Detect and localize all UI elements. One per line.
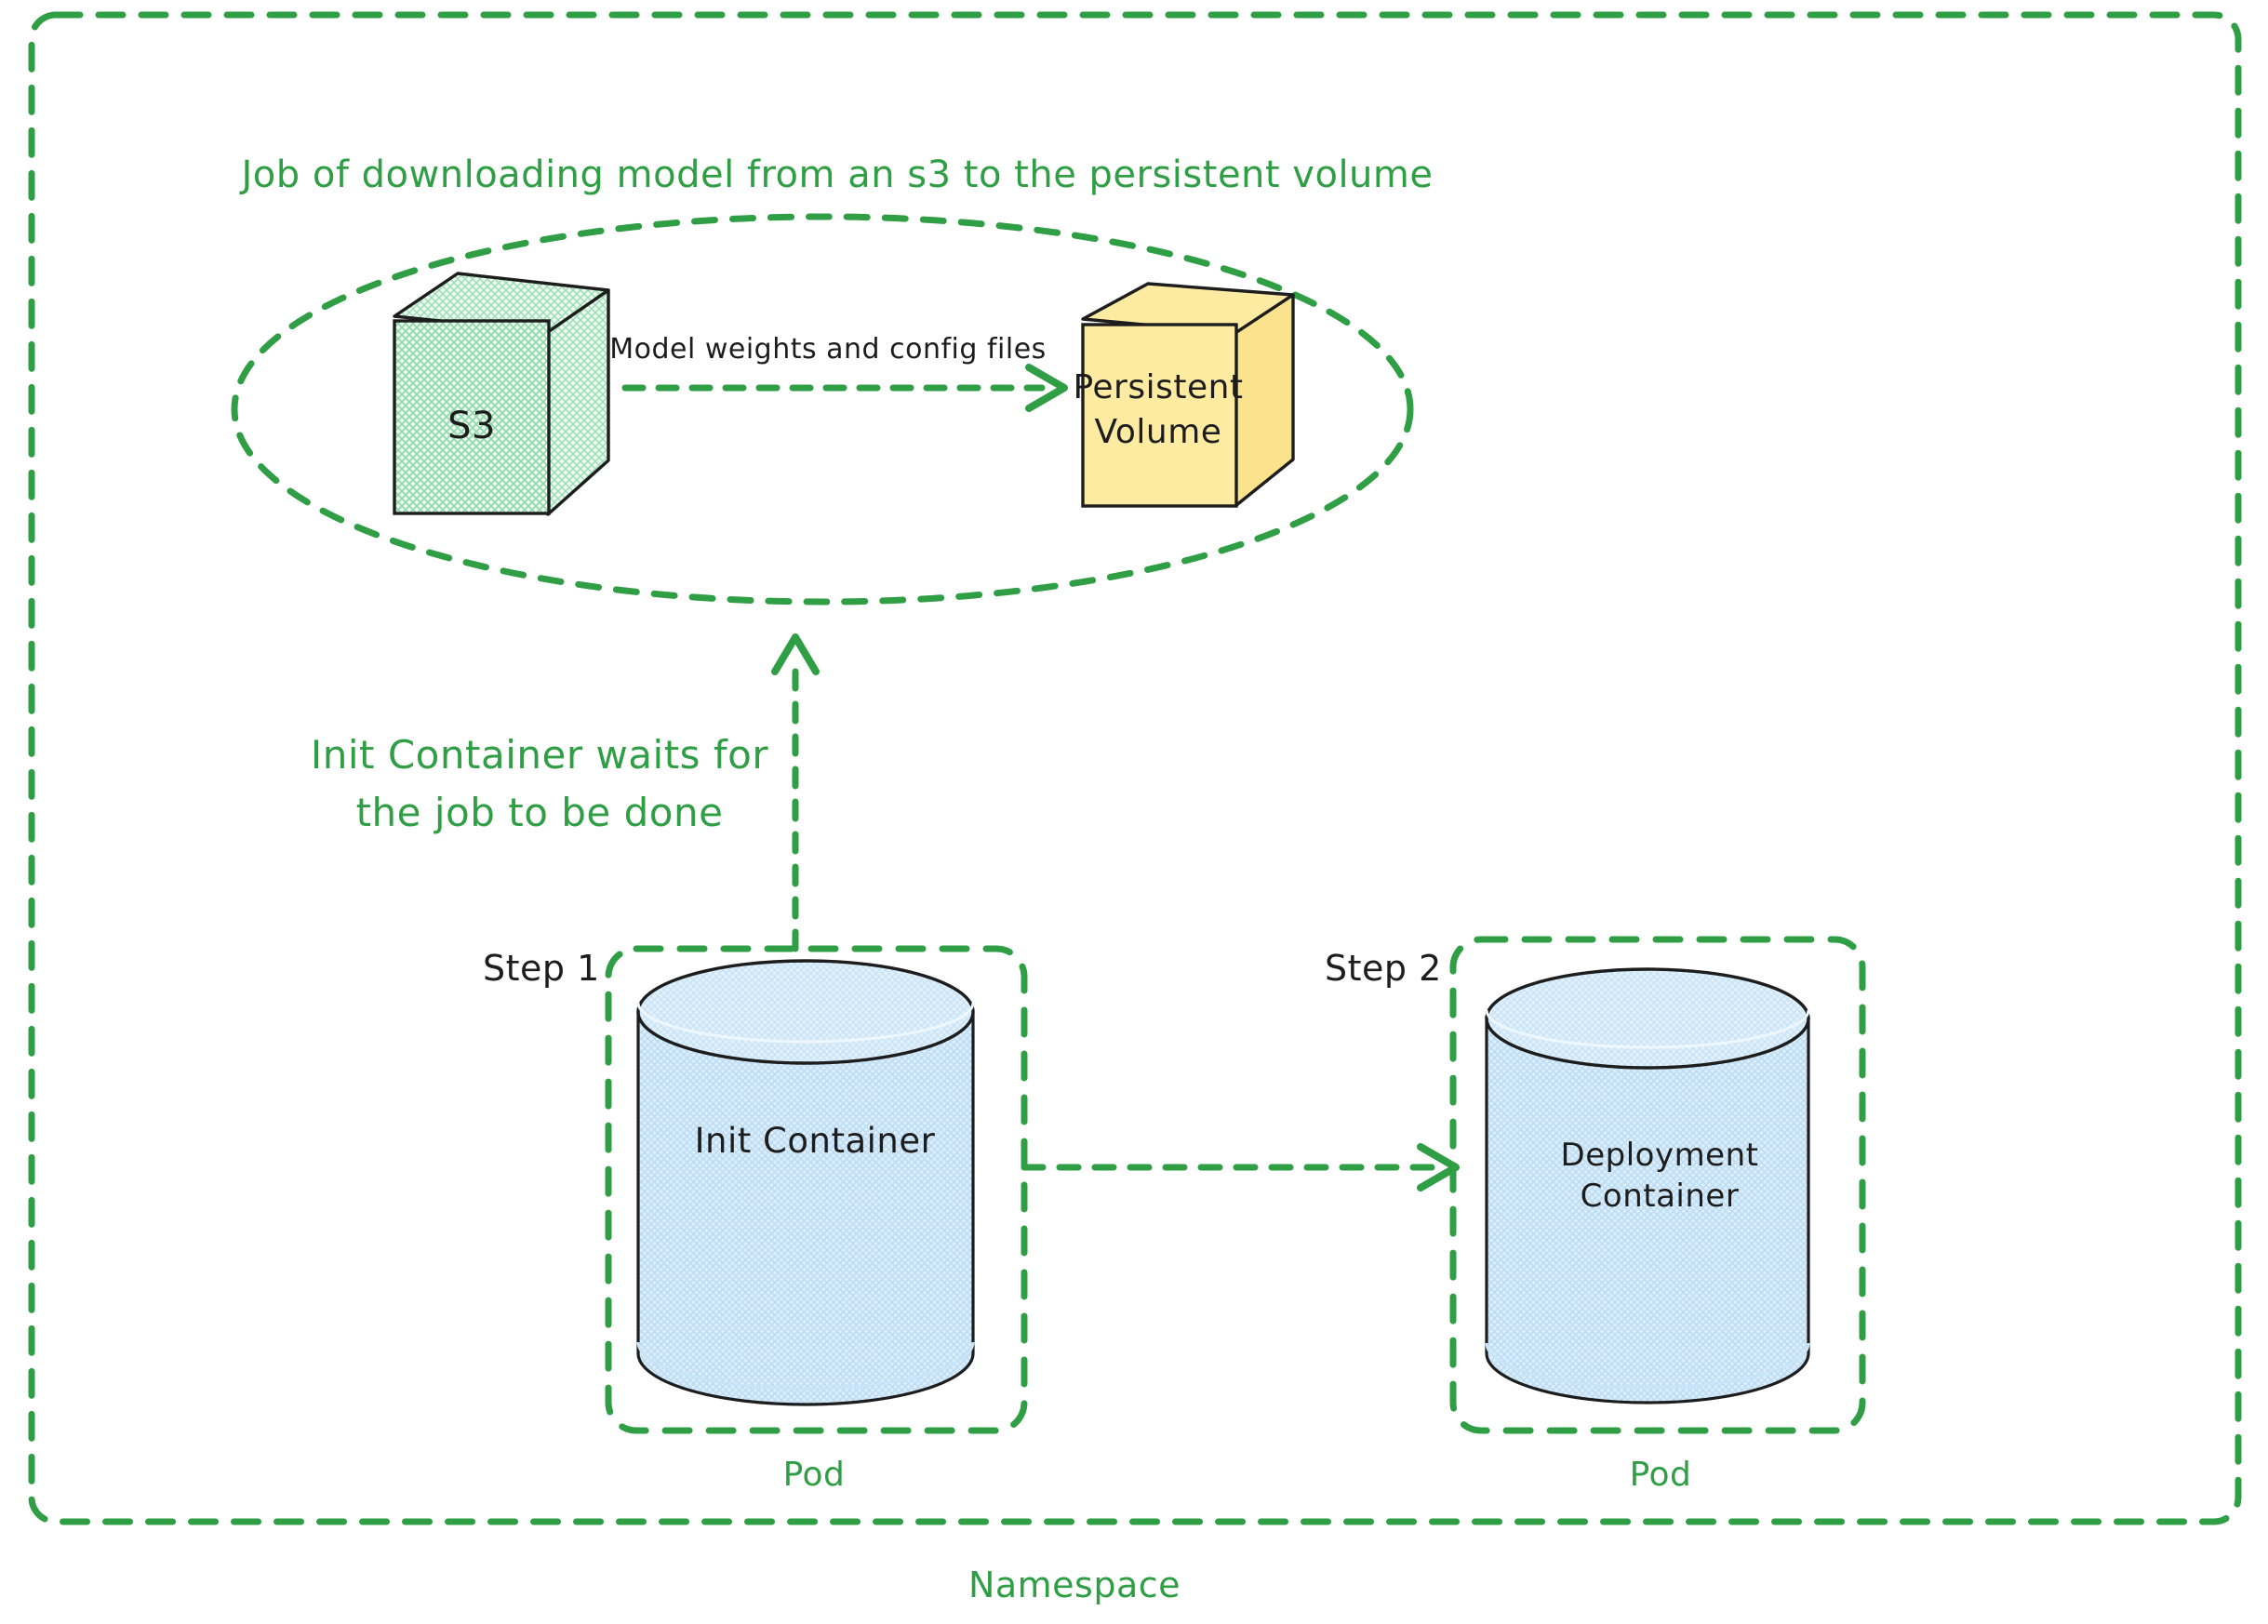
init-wait-arrow [775, 637, 816, 949]
pod-1-label: Pod [783, 1456, 846, 1494]
s3-cube-label: S3 [447, 405, 496, 447]
step-transition-arrow [1024, 1147, 1456, 1188]
step-1-label: Step 1 [483, 948, 600, 989]
init-wait-note-line2: the job to be done [356, 790, 724, 835]
pod-2-label: Pod [1630, 1456, 1692, 1494]
deployment-container-label-line1: Deployment [1561, 1137, 1759, 1174]
transfer-arrow [625, 367, 1064, 408]
namespace-label: Namespace [968, 1564, 1181, 1605]
deployment-container-label-line2: Container [1581, 1178, 1740, 1215]
step-2-label: Step 2 [1325, 948, 1442, 989]
diagram-canvas: Job of downloading model from an s3 to t… [0, 0, 2268, 1624]
transfer-arrow-label: Model weights and config files [609, 333, 1047, 366]
job-group-title: Job of downloading model from an s3 to t… [242, 153, 1434, 196]
persistent-volume-label-line1: Persistent [1073, 368, 1243, 406]
init-wait-note-line1: Init Container waits for [311, 732, 768, 778]
persistent-volume-label-line2: Volume [1095, 413, 1222, 451]
init-container-cylinder-shape [638, 961, 973, 1404]
diagram-vector-layer [0, 0, 2268, 1624]
init-container-label: Init Container [695, 1121, 936, 1161]
s3-cube-shape [394, 273, 608, 514]
